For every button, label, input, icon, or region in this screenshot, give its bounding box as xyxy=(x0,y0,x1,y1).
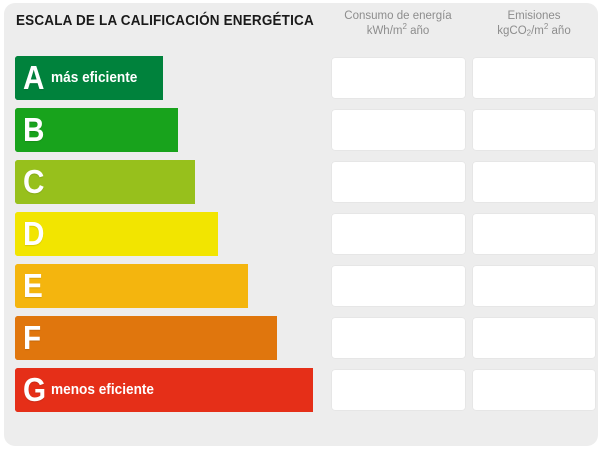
band-letter-a: A xyxy=(23,61,44,94)
band-letter-f: F xyxy=(23,321,41,354)
rating-row-a: Amás eficiente xyxy=(4,56,598,100)
rating-band-f[interactable]: F xyxy=(15,316,277,360)
rating-row-e: E xyxy=(4,264,598,308)
band-arrow-icon xyxy=(296,368,313,412)
emisiones-unit-prefix: kgCO xyxy=(497,25,526,37)
consumo-unit-suffix: año xyxy=(407,25,429,37)
band-efficiency-note: más eficiente xyxy=(51,71,137,86)
consumo-cell-f[interactable] xyxy=(331,317,466,359)
band-body xyxy=(15,264,231,308)
emisiones-unit-suffix: año xyxy=(548,25,570,37)
column-header-emisiones-line2: kgCO2/m2 año xyxy=(469,24,599,39)
consumo-unit-prefix: kWh/m xyxy=(367,25,403,37)
rating-band-e[interactable]: E xyxy=(15,264,248,308)
column-header-consumo-line1: Consumo de energía xyxy=(327,9,469,24)
column-header-consumo-line2: kWh/m2 año xyxy=(327,24,469,39)
band-arrow-icon xyxy=(146,56,163,100)
emisiones-cell-a[interactable] xyxy=(472,57,596,99)
emisiones-cell-f[interactable] xyxy=(472,317,596,359)
column-header-emisiones-line1: Emisiones xyxy=(469,9,599,24)
rating-row-d: D xyxy=(4,212,598,256)
band-letter-c: C xyxy=(23,165,44,198)
energy-rating-scale-widget: ESCALA DE LA CALIFICACIÓN ENERGÉTICA Con… xyxy=(0,0,605,450)
band-letter-g: G xyxy=(23,373,46,406)
rating-row-f: F xyxy=(4,316,598,360)
band-letter-b: B xyxy=(23,113,44,146)
band-body xyxy=(15,316,260,360)
emisiones-cell-e[interactable] xyxy=(472,265,596,307)
rating-band-d[interactable]: D xyxy=(15,212,218,256)
consumo-cell-b[interactable] xyxy=(331,109,466,151)
consumo-cell-d[interactable] xyxy=(331,213,466,255)
emisiones-cell-d[interactable] xyxy=(472,213,596,255)
emisiones-unit-mid: /m xyxy=(531,25,544,37)
emisiones-cell-b[interactable] xyxy=(472,109,596,151)
consumo-cell-c[interactable] xyxy=(331,161,466,203)
emisiones-cell-c[interactable] xyxy=(472,161,596,203)
page-title: ESCALA DE LA CALIFICACIÓN ENERGÉTICA xyxy=(16,13,314,29)
rating-row-b: B xyxy=(4,108,598,152)
column-header-consumo: Consumo de energía kWh/m2 año xyxy=(327,9,469,38)
band-arrow-icon xyxy=(201,212,218,256)
emisiones-cell-g[interactable] xyxy=(472,369,596,411)
rating-band-g[interactable]: Gmenos eficiente xyxy=(15,368,313,412)
consumo-cell-e[interactable] xyxy=(331,265,466,307)
rating-band-list: Amás eficienteBCDEFGmenos eficiente xyxy=(4,50,598,446)
band-letter-d: D xyxy=(23,217,44,250)
band-efficiency-note: menos eficiente xyxy=(51,383,154,398)
consumo-cell-a[interactable] xyxy=(331,57,466,99)
rating-band-a[interactable]: Amás eficiente xyxy=(15,56,163,100)
panel-header: ESCALA DE LA CALIFICACIÓN ENERGÉTICA Con… xyxy=(4,3,598,50)
column-header-emisiones: Emisiones kgCO2/m2 año xyxy=(469,9,599,38)
band-arrow-icon xyxy=(260,316,277,360)
rating-band-c[interactable]: C xyxy=(15,160,195,204)
rating-band-b[interactable]: B xyxy=(15,108,178,152)
rating-row-g: Gmenos eficiente xyxy=(4,368,598,412)
band-arrow-icon xyxy=(161,108,178,152)
band-letter-e: E xyxy=(23,269,43,302)
band-arrow-icon xyxy=(178,160,195,204)
rating-row-c: C xyxy=(4,160,598,204)
scale-panel: ESCALA DE LA CALIFICACIÓN ENERGÉTICA Con… xyxy=(4,3,598,446)
consumo-cell-g[interactable] xyxy=(331,369,466,411)
band-arrow-icon xyxy=(231,264,248,308)
